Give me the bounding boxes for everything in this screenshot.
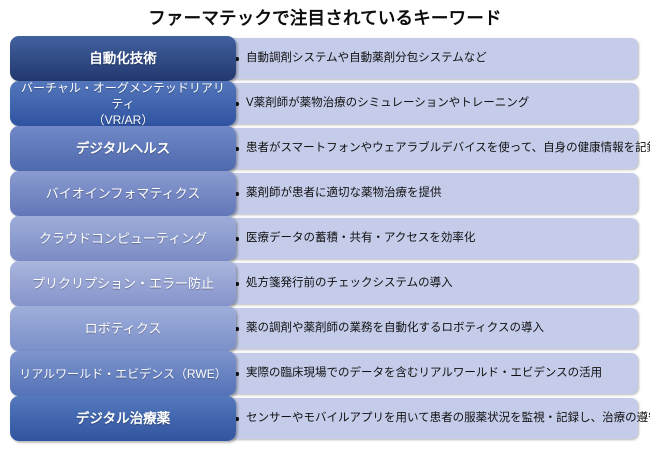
keyword-description-text: 薬の調剤や薬剤師の業務を自動化するロボティクスの導入 — [234, 321, 544, 336]
keyword-row: 医療データの蓄積・共有・アクセスを効率化クラウドコンピューティング — [0, 216, 650, 261]
page-title: ファーマテックで注目されているキーワード — [0, 6, 650, 30]
keyword-description-text: V薬剤師が薬物治療のシミュレーションやトレーニング — [234, 96, 529, 111]
keyword-label-box: リアルワールド・エビデンス（RWE） — [10, 351, 236, 396]
keyword-label-box: プリクリプション・エラー防止 — [10, 261, 236, 306]
keyword-label-box: バーチャル・オーグメンテッドリアリティ （VR/AR） — [10, 81, 236, 126]
keyword-label-text: 自動化技術 — [89, 51, 157, 67]
keyword-row: 処方箋発行前のチェックシステムの導入プリクリプション・エラー防止 — [0, 261, 650, 306]
keyword-description-text: 自動調剤システムや自動薬剤分包システムなど — [234, 51, 487, 66]
keyword-label-text: ロボティクス — [85, 321, 162, 337]
keyword-label-box: クラウドコンピューティング — [10, 216, 236, 261]
keyword-description-text: 処方箋発行前のチェックシステムの導入 — [234, 276, 453, 291]
keyword-description-box: 薬の調剤や薬剤師の業務を自動化するロボティクスの導入 — [222, 308, 638, 349]
keyword-description-text: 薬剤師が患者に適切な薬物治療を提供 — [234, 186, 442, 201]
keyword-description-box: 実際の臨床現場でのデータを含むリアルワールド・エビデンスの活用 — [222, 353, 638, 394]
keyword-description-text: 医療データの蓄積・共有・アクセスを効率化 — [234, 231, 475, 246]
keyword-label-text: バーチャル・オーグメンテッドリアリティ （VR/AR） — [16, 80, 230, 128]
keyword-row: センサーやモバイルアプリを用いて患者の服薬状況を監視・記録し、治療の遵守を支援デ… — [0, 396, 650, 441]
slide-canvas: ファーマテックで注目されているキーワード 自動調剤システムや自動薬剤分包システム… — [0, 0, 650, 453]
keyword-label-text: デジタルヘルス — [76, 141, 170, 157]
keyword-label-box: バイオインフォマティクス — [10, 171, 236, 216]
keyword-label-box: デジタル治療薬 — [10, 396, 236, 441]
keyword-row: 患者がスマートフォンやウェアラブルデバイスを使って、自身の健康情報を記録・管理デ… — [0, 126, 650, 171]
keyword-description-box: 薬剤師が患者に適切な薬物治療を提供 — [222, 173, 638, 214]
keyword-description-box: センサーやモバイルアプリを用いて患者の服薬状況を監視・記録し、治療の遵守を支援 — [222, 398, 638, 439]
keyword-label-box: 自動化技術 — [10, 36, 236, 81]
keyword-label-text: デジタル治療薬 — [76, 411, 170, 427]
keyword-description-box: 患者がスマートフォンやウェアラブルデバイスを使って、自身の健康情報を記録・管理 — [222, 128, 638, 169]
keyword-description-text: 患者がスマートフォンやウェアラブルデバイスを使って、自身の健康情報を記録・管理 — [234, 141, 650, 156]
keyword-row-list: 自動調剤システムや自動薬剤分包システムなど自動化技術V薬剤師が薬物治療のシミュレ… — [0, 36, 650, 441]
keyword-label-text: リアルワールド・エビデンス（RWE） — [19, 366, 226, 382]
keyword-label-text: プリクリプション・エラー防止 — [32, 276, 214, 292]
keyword-row: 薬剤師が患者に適切な薬物治療を提供バイオインフォマティクス — [0, 171, 650, 216]
keyword-label-text: クラウドコンピューティング — [39, 231, 207, 247]
keyword-row: 薬の調剤や薬剤師の業務を自動化するロボティクスの導入ロボティクス — [0, 306, 650, 351]
keyword-label-text: バイオインフォマティクス — [46, 186, 200, 202]
keyword-row: 自動調剤システムや自動薬剤分包システムなど自動化技術 — [0, 36, 650, 81]
keyword-row: V薬剤師が薬物治療のシミュレーションやトレーニングバーチャル・オーグメンテッドリ… — [0, 81, 650, 126]
keyword-description-box: 自動調剤システムや自動薬剤分包システムなど — [222, 38, 638, 79]
keyword-description-box: 医療データの蓄積・共有・アクセスを効率化 — [222, 218, 638, 259]
keyword-label-box: デジタルヘルス — [10, 126, 236, 171]
keyword-description-box: V薬剤師が薬物治療のシミュレーションやトレーニング — [222, 83, 638, 124]
keyword-description-box: 処方箋発行前のチェックシステムの導入 — [222, 263, 638, 304]
keyword-description-text: センサーやモバイルアプリを用いて患者の服薬状況を監視・記録し、治療の遵守を支援 — [234, 411, 650, 426]
keyword-row: 実際の臨床現場でのデータを含むリアルワールド・エビデンスの活用リアルワールド・エ… — [0, 351, 650, 396]
keyword-description-text: 実際の臨床現場でのデータを含むリアルワールド・エビデンスの活用 — [234, 366, 602, 381]
keyword-label-box: ロボティクス — [10, 306, 236, 351]
